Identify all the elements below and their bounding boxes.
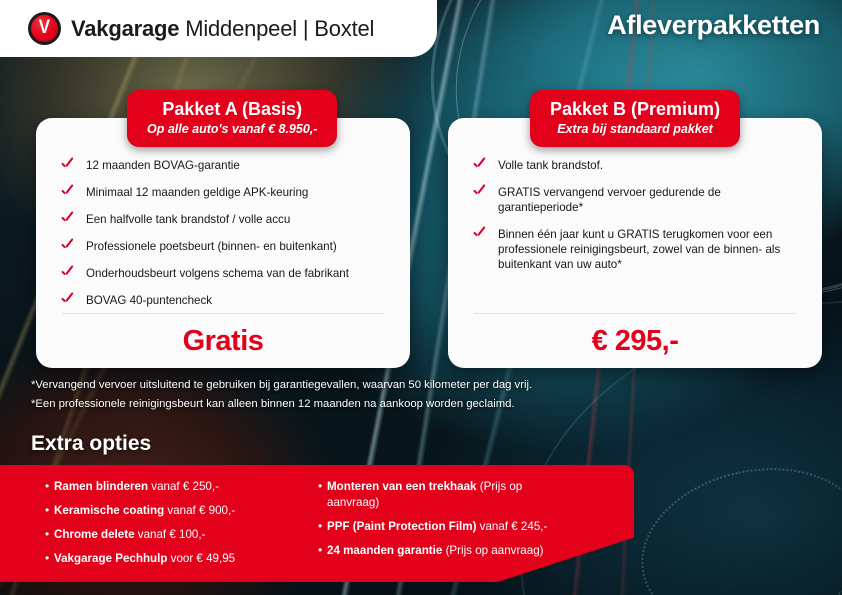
option-item: • Vakgarage Pechhulp voor € 49,95 xyxy=(45,551,300,567)
option-price: vanaf € 250,- xyxy=(148,480,219,493)
feature-text: Een halfvolle tank brandstof / volle acc… xyxy=(86,212,290,227)
feature-item: BOVAG 40-puntencheck xyxy=(60,293,392,309)
feature-item: GRATIS vervangend vervoer gedurende de g… xyxy=(472,185,804,216)
brand-name: Vakgarage Middenpeel | Boxtel xyxy=(71,16,374,42)
feature-item: Onderhoudsbeurt volgens schema van de fa… xyxy=(60,266,392,282)
feature-item: Minimaal 12 maanden geldige APK-keuring xyxy=(60,185,392,201)
bullet-icon: • xyxy=(45,527,54,543)
package-a-title: Pakket A (Basis) xyxy=(147,99,317,120)
package-b-feature-list: Volle tank brandstof. GRATIS vervangend … xyxy=(472,158,804,283)
feature-text: BOVAG 40-puntencheck xyxy=(86,293,212,308)
option-name: Vakgarage Pechhulp xyxy=(54,552,167,565)
package-b-badge: Pakket B (Premium) Extra bij standaard p… xyxy=(530,90,740,147)
option-item: • 24 maanden garantie (Prijs op aanvraag… xyxy=(318,543,573,559)
feature-text: Minimaal 12 maanden geldige APK-keuring xyxy=(86,185,308,200)
check-icon xyxy=(60,214,76,228)
bullet-icon: • xyxy=(318,543,327,559)
option-item: • Monteren van een trekhaak (Prijs op aa… xyxy=(318,479,573,510)
feature-item: Professionele poetsbeurt (binnen- en bui… xyxy=(60,239,392,255)
brand-name-strong: Vakgarage xyxy=(71,16,179,41)
extra-options-column-left: • Ramen blinderen vanaf € 250,- • Kerami… xyxy=(45,479,300,576)
check-icon xyxy=(60,187,76,201)
package-b-subtitle: Extra bij standaard pakket xyxy=(550,121,720,137)
package-a-price: Gratis xyxy=(36,325,410,358)
option-price: (Prijs op aanvraag) xyxy=(442,544,543,557)
bullet-icon: • xyxy=(45,551,54,567)
page-title: Afleverpakketten xyxy=(607,10,820,41)
feature-item: 12 maanden BOVAG-garantie xyxy=(60,158,392,174)
option-price: voor € 49,95 xyxy=(167,552,235,565)
feature-item: Volle tank brandstof. xyxy=(472,158,804,174)
check-icon xyxy=(60,268,76,282)
brand-name-location: Middenpeel | Boxtel xyxy=(179,16,374,41)
extra-options-title: Extra opties xyxy=(31,432,151,456)
feature-item: Binnen één jaar kunt u GRATIS terugkomen… xyxy=(472,227,804,273)
option-name: PPF (Paint Protection Film) xyxy=(327,520,476,533)
check-icon xyxy=(60,160,76,174)
package-card-a: Pakket A (Basis) Op alle auto's vanaf € … xyxy=(36,118,410,368)
feature-text: Volle tank brandstof. xyxy=(498,158,603,173)
bullet-icon: • xyxy=(45,479,54,495)
option-price: vanaf € 900,- xyxy=(164,504,235,517)
check-icon xyxy=(60,241,76,255)
option-item: • PPF (Paint Protection Film) vanaf € 24… xyxy=(318,519,573,535)
option-name: 24 maanden garantie xyxy=(327,544,442,557)
package-card-b: Pakket B (Premium) Extra bij standaard p… xyxy=(448,118,822,368)
header-bar: V Vakgarage Middenpeel | Boxtel xyxy=(0,0,437,57)
vakgarage-logo-icon: V xyxy=(28,12,61,45)
logo-disc: V xyxy=(31,15,58,42)
option-price: vanaf € 245,- xyxy=(476,520,547,533)
feature-text: Binnen één jaar kunt u GRATIS terugkomen… xyxy=(498,227,804,273)
package-a-badge: Pakket A (Basis) Op alle auto's vanaf € … xyxy=(127,90,337,147)
bullet-icon: • xyxy=(318,519,327,535)
option-item: • Keramische coating vanaf € 900,- xyxy=(45,503,300,519)
bullet-icon: • xyxy=(318,479,327,495)
feature-text: 12 maanden BOVAG-garantie xyxy=(86,158,240,173)
option-name: Keramische coating xyxy=(54,504,164,517)
option-name: Ramen blinderen xyxy=(54,480,148,493)
package-a-subtitle: Op alle auto's vanaf € 8.950,- xyxy=(147,121,317,137)
extra-options-column-right: • Monteren van een trekhaak (Prijs op aa… xyxy=(318,479,573,576)
feature-text: Professionele poetsbeurt (binnen- en bui… xyxy=(86,239,337,254)
feature-text: GRATIS vervangend vervoer gedurende de g… xyxy=(498,185,804,216)
poster-canvas: V Vakgarage Middenpeel | Boxtel Afleverp… xyxy=(0,0,842,595)
bullet-icon: • xyxy=(45,503,54,519)
footnotes: *Vervangend vervoer uitsluitend te gebru… xyxy=(31,376,532,415)
option-item: • Chrome delete vanaf € 100,- xyxy=(45,527,300,543)
option-name: Monteren van een trekhaak xyxy=(327,480,477,493)
extra-options-columns: • Ramen blinderen vanaf € 250,- • Kerami… xyxy=(45,479,645,576)
feature-item: Een halfvolle tank brandstof / volle acc… xyxy=(60,212,392,228)
option-price: vanaf € 100,- xyxy=(135,528,206,541)
footnote-item: *Vervangend vervoer uitsluitend te gebru… xyxy=(31,376,532,395)
card-divider xyxy=(62,313,384,314)
card-divider xyxy=(474,313,796,314)
check-icon xyxy=(472,187,488,201)
option-name: Chrome delete xyxy=(54,528,135,541)
check-icon xyxy=(472,160,488,174)
feature-text: Onderhoudsbeurt volgens schema van de fa… xyxy=(86,266,349,281)
footnote-item: *Een professionele reinigingsbeurt kan a… xyxy=(31,395,532,414)
package-a-feature-list: 12 maanden BOVAG-garantie Minimaal 12 ma… xyxy=(60,158,392,320)
check-icon xyxy=(60,295,76,309)
package-b-price: € 295,- xyxy=(448,325,822,358)
check-icon xyxy=(472,229,488,243)
option-item: • Ramen blinderen vanaf € 250,- xyxy=(45,479,300,495)
logo-letter: V xyxy=(39,18,50,37)
package-b-title: Pakket B (Premium) xyxy=(550,99,720,120)
